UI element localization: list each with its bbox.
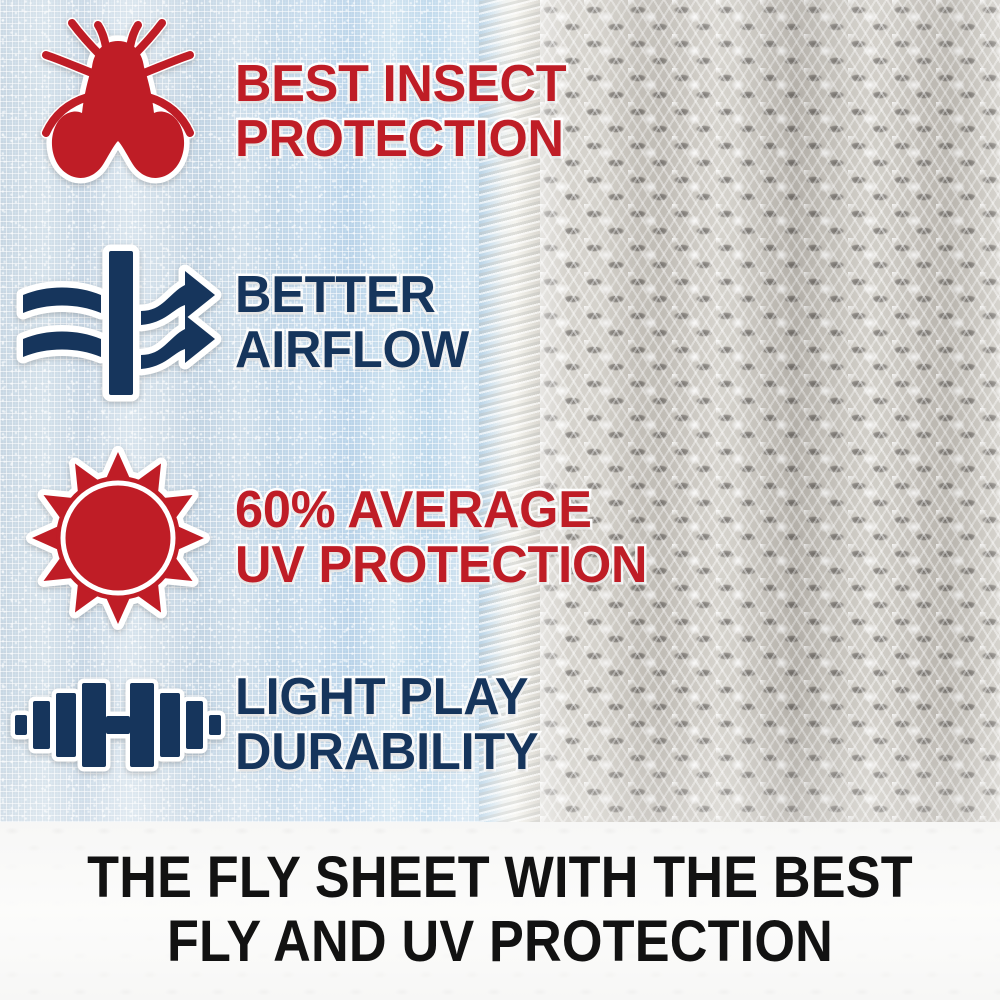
feature-label-insect: BEST INSECT PROTECTION (235, 57, 977, 167)
feature-row-uv: 60% AVERAGE UV PROTECTION (0, 442, 1000, 634)
sun-icon (25, 445, 211, 631)
feature-label-insect-line2: PROTECTION (235, 112, 977, 167)
feature-list: BEST INSECT PROTECTION (0, 0, 1000, 822)
fly-icon-cell (0, 17, 235, 207)
banner-headline-line1: THE FLY SHEET WITH THE BEST (87, 845, 913, 910)
feature-label-airflow-line2: AIRFLOW (235, 323, 977, 378)
bottom-banner: THE FLY SHEET WITH THE BEST FLY AND UV P… (0, 822, 1000, 1000)
feature-label-uv: 60% AVERAGE UV PROTECTION (235, 483, 977, 593)
banner-headline: THE FLY SHEET WITH THE BEST FLY AND UV P… (50, 846, 950, 974)
infographic-root: BEST INSECT PROTECTION (0, 0, 1000, 1000)
feature-label-insect-line1: BEST INSECT (235, 57, 977, 112)
fly-icon (32, 17, 204, 207)
feature-label-durability-line1: LIGHT PLAY (235, 670, 977, 725)
feature-label-uv-line1: 60% AVERAGE (235, 483, 977, 538)
feature-label-airflow: BETTER AIRFLOW (235, 268, 977, 378)
dumbbell-icon (9, 677, 227, 773)
feature-row-airflow: BETTER AIRFLOW (0, 238, 1000, 408)
sun-icon-cell (0, 445, 235, 631)
dumbbell-icon-cell (0, 677, 235, 773)
feature-label-airflow-line1: BETTER (235, 268, 977, 323)
airflow-icon-cell (0, 243, 235, 403)
airflow-arrows-icon (13, 243, 223, 403)
banner-headline-line2: FLY AND UV PROTECTION (50, 910, 950, 974)
feature-label-durability: LIGHT PLAY DURABILITY (235, 670, 977, 780)
feature-row-durability: LIGHT PLAY DURABILITY (0, 660, 1000, 790)
feature-label-uv-line2: UV PROTECTION (235, 538, 977, 593)
feature-row-insect: BEST INSECT PROTECTION (0, 22, 1000, 202)
feature-label-durability-line2: DURABILITY (235, 725, 977, 780)
